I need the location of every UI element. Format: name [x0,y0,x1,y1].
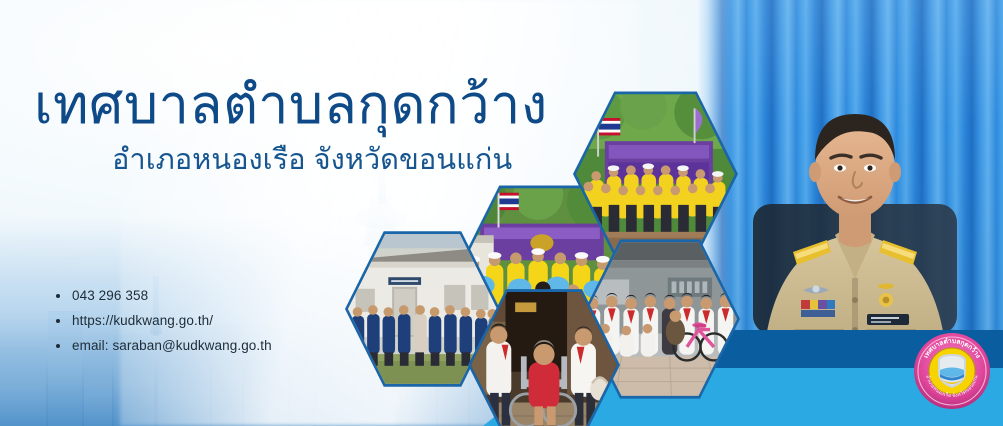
municipal-seal[interactable]: เทศบาลตำบลกุดกว้าง อำเภอหนองเรือ จังหวัด… [913,332,991,410]
title-block: เทศบาลตำบลกุดกว้าง อำเภอหนองเรือ จังหวัด… [34,78,654,177]
hex-photo-inner [471,289,617,426]
contact-list: 043 296 358 https://kudkwang.go.th/ emai… [55,288,272,363]
contact-item-website[interactable]: https://kudkwang.go.th/ [55,313,272,328]
municipality-banner: เทศบาลตำบลกุดกว้าง อำเภอหนองเรือ จังหวัด… [0,0,1003,426]
photo-hex-elderly-assistance[interactable] [468,286,620,426]
contact-website-link[interactable]: https://kudkwang.go.th/ [72,313,213,328]
contact-item-phone: 043 296 358 [55,288,272,303]
contact-phone-text: 043 296 358 [72,288,148,303]
contact-email-link[interactable]: email: saraban@kudkwang.go.th [72,338,272,353]
mayor-portrait [735,42,975,372]
contact-item-email[interactable]: email: saraban@kudkwang.go.th [55,338,272,353]
page-title: เทศบาลตำบลกุดกว้าง [34,78,654,133]
